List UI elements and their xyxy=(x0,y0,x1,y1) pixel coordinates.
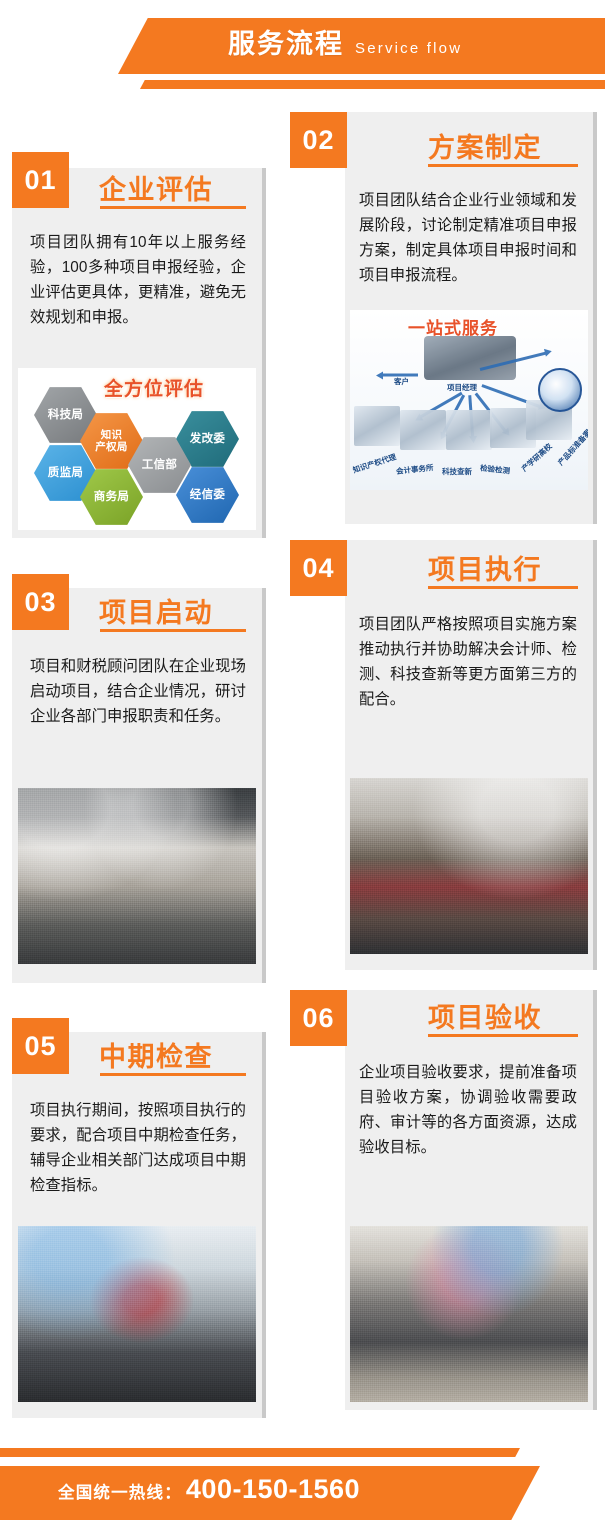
photo-texture xyxy=(18,1226,256,1402)
service-bottom-label: 检验检测 xyxy=(480,462,511,476)
hotline-number[interactable]: 400-150-1560 xyxy=(186,1474,360,1505)
title-underline xyxy=(100,629,246,632)
service-hub-photo xyxy=(424,336,516,380)
service-node-photo xyxy=(446,410,492,450)
step-title: 企业评估 xyxy=(99,168,213,207)
hex-diagram: 全方位评估 科技局 知识 产权局 发改委 质监局 工信部 商务局 经信委 xyxy=(18,368,256,530)
step-title: 项目验收 xyxy=(428,996,542,1035)
service-client-label: 客户 xyxy=(394,376,409,387)
title-underline xyxy=(428,586,578,589)
photo-site-visit xyxy=(18,1226,256,1402)
step-description: 项目团队结合企业行业领域和发展阶段，讨论制定精准项目申报方案，制定具体项目申报时… xyxy=(359,188,577,288)
hotline-group[interactable]: 全国统一热线： 400-150-1560 xyxy=(58,1474,360,1505)
photo-texture xyxy=(350,778,588,954)
hotline-label: 全国统一热线： xyxy=(58,1479,182,1503)
header-accent-stripe xyxy=(140,80,605,89)
hex-node-label: 质监局 xyxy=(44,467,87,480)
page-footer: 全国统一热线： 400-150-1560 xyxy=(0,1430,605,1538)
process-step-card-06[interactable]: 06 项目验收 企业项目验收要求，提前准备项目验收方案，协调验收需要政府、审计等… xyxy=(345,990,593,1410)
step-title: 中期检查 xyxy=(99,1035,213,1074)
page-title: 服务流程 xyxy=(228,26,344,62)
process-step-card-04[interactable]: 04 项目执行 项目团队严格按照项目实施方案推动执行并协助解决会计师、检测、科技… xyxy=(345,540,593,970)
service-bottom-label: 科技查新 xyxy=(442,466,472,477)
service-node-photo xyxy=(400,410,446,450)
hex-node-label: 商务局 xyxy=(90,491,133,504)
step-title: 项目执行 xyxy=(428,548,542,587)
hex-node-label: 科技局 xyxy=(44,409,87,422)
hex-diagram-title: 全方位评估 xyxy=(104,374,204,401)
process-step-card-05[interactable]: 05 中期检查 项目执行期间，按照项目执行的要求，配合项目中期检查任务，辅导企业… xyxy=(12,1032,262,1418)
iso-seal-icon xyxy=(538,368,582,412)
photo-meeting-room xyxy=(18,788,256,964)
service-arrow xyxy=(382,374,418,377)
service-center-label: 项目经理 xyxy=(447,382,477,393)
title-underline xyxy=(428,164,578,167)
step-number-badge: 05 xyxy=(12,1018,69,1074)
step-description: 企业项目验收要求，提前准备项目验收方案，协调验收需要政府、审计等的各方面资源，达… xyxy=(359,1060,577,1160)
page-header: 服务流程 Service flow xyxy=(0,0,605,112)
hex-node-label: 发改委 xyxy=(186,433,229,446)
step-title: 项目启动 xyxy=(99,591,213,630)
step-number-badge: 02 xyxy=(290,112,347,168)
page-subtitle: Service flow xyxy=(355,36,462,62)
step-description: 项目执行期间，按照项目执行的要求，配合项目中期检查任务，辅导企业相关部门达成项目… xyxy=(30,1098,246,1198)
process-step-card-01[interactable]: 01 企业评估 项目团队拥有10年以上服务经验，100多种项目申报经验，企业评估… xyxy=(12,168,262,538)
hex-node-label: 经信委 xyxy=(186,489,229,502)
footer-accent-stripe xyxy=(0,1448,520,1457)
header-title-group: 服务流程 Service flow xyxy=(228,26,462,62)
photo-boardroom xyxy=(350,1226,588,1402)
step-description: 项目团队拥有10年以上服务经验，100多种项目申报经验，企业评估更具体，更精准，… xyxy=(30,230,246,330)
service-diagram: 一站式服务 客户 项目经理 知识产权代理 会计事务所 科技查新 检验检测 产学研 xyxy=(350,310,588,490)
infographic-page: 服务流程 Service flow 01 企业评估 项目团队拥有10年以上服务经… xyxy=(0,0,605,1538)
step-title: 方案制定 xyxy=(428,126,542,165)
photo-texture xyxy=(18,788,256,964)
hex-node-label: 工信部 xyxy=(138,459,181,472)
title-underline xyxy=(100,206,246,209)
service-bottom-label: 会计事务所 xyxy=(396,462,434,477)
title-underline xyxy=(100,1073,246,1076)
process-step-card-02[interactable]: 02 方案制定 项目团队结合企业行业领域和发展阶段，讨论制定精准项目申报方案，制… xyxy=(345,112,593,524)
service-node-photo xyxy=(354,406,400,446)
process-step-card-03[interactable]: 03 项目启动 项目和财税顾问团队在企业现场启动项目，结合企业情况，研讨企业各部… xyxy=(12,588,262,983)
step-description: 项目团队严格按照项目实施方案推动执行并协助解决会计师、检测、科技查新等更方面第三… xyxy=(359,612,577,712)
title-underline xyxy=(428,1034,578,1037)
step-number-badge: 03 xyxy=(12,574,69,630)
service-bottom-label: 知识产权代理 xyxy=(351,451,397,475)
step-number-badge: 06 xyxy=(290,990,347,1046)
service-bottom-labels: 知识产权代理 会计事务所 科技查新 检验检测 产学研高校 产品标准备案 xyxy=(350,450,588,484)
photo-working-session xyxy=(350,778,588,954)
step-number-badge: 01 xyxy=(12,152,69,208)
hex-node-label: 知识 产权局 xyxy=(91,429,131,453)
step-description: 项目和财税顾问团队在企业现场启动项目，结合企业情况，研讨企业各部门申报职责和任务… xyxy=(30,654,246,729)
photo-texture xyxy=(350,1226,588,1402)
step-number-badge: 04 xyxy=(290,540,347,596)
